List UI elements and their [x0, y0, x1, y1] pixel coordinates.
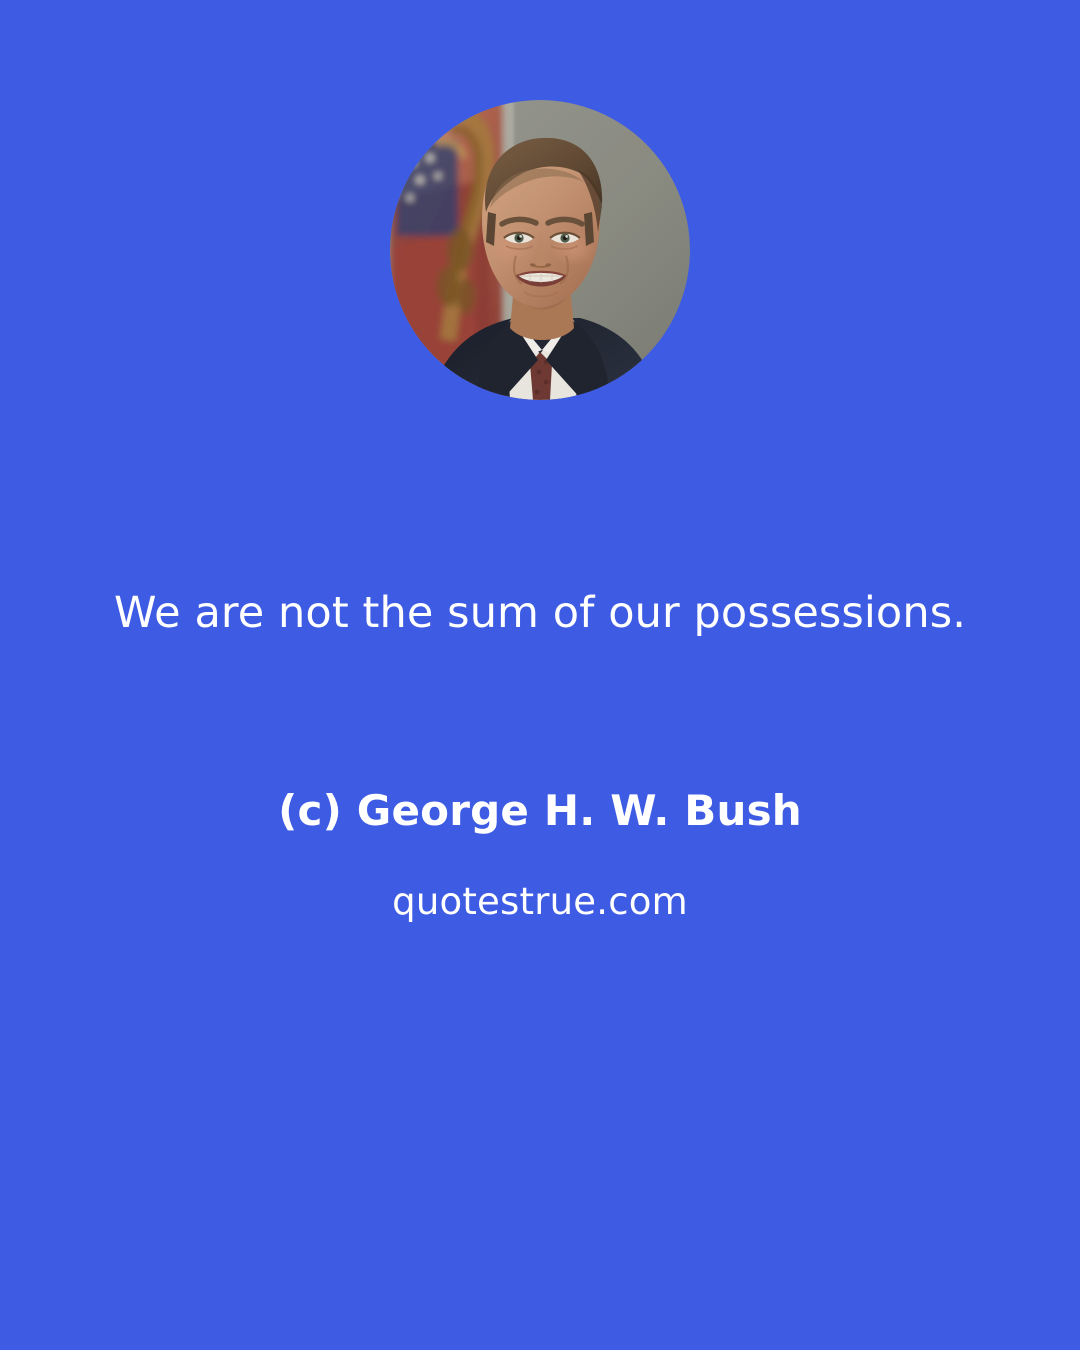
avatar	[390, 100, 690, 400]
quote-card: We are not the sum of our possessions. (…	[0, 0, 1080, 1350]
quote-text: We are not the sum of our possessions.	[0, 585, 1080, 642]
source-website: quotestrue.com	[0, 878, 1080, 926]
attribution-text: (c) George H. W. Bush	[0, 784, 1080, 839]
portrait-photo-icon	[390, 100, 690, 400]
